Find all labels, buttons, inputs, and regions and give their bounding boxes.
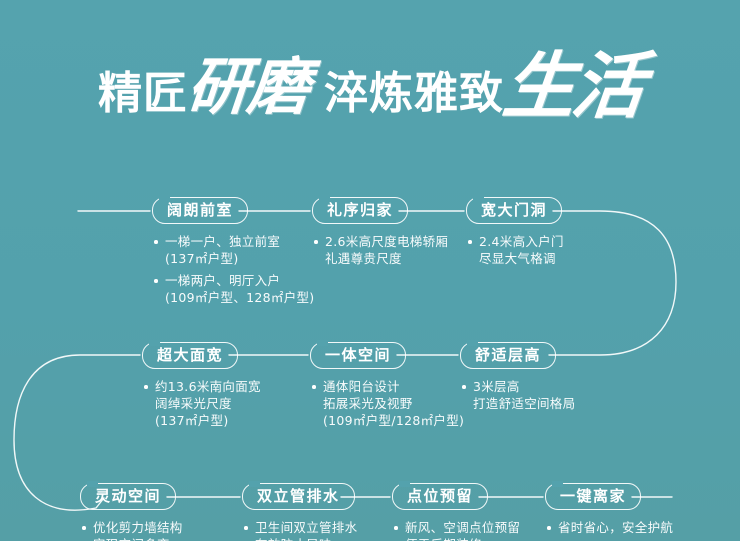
feature-card-kuandamendong[interactable]: 宽大门洞 2.4米高入户门 尽显大气格调: [466, 197, 564, 272]
title-segment-4: 生活: [498, 27, 647, 132]
feature-card-yitikongjian[interactable]: 一体空间 通体阳台设计 拓展采光及视野 (109㎡户型/128㎡户型): [310, 342, 464, 434]
bullet-line-2: (137㎡户型): [165, 250, 314, 267]
title-segment-2: 研磨: [184, 36, 312, 126]
bullet-line-2: 拓展采光及视野: [323, 395, 464, 412]
bullet-line-1: 约13.6米南向面宽: [155, 379, 261, 394]
card-label: 一键离家: [545, 483, 641, 510]
bullet-line-3: (137㎡户型): [155, 412, 261, 429]
card-label: 阔朗前室: [152, 197, 248, 224]
bullet-line-1: 优化剪力墙结构: [93, 520, 183, 535]
feature-card-chaodamiankuan[interactable]: 超大面宽 约13.6米南向面宽 阔绰采光尺度 (137㎡户型): [142, 342, 261, 434]
card-bullet-list: 省时省心，安全护航: [545, 519, 673, 536]
bullet-line-2: 有效防止异味: [255, 536, 357, 541]
feature-card-lingdongkongjian[interactable]: 灵动空间 优化剪力墙结构 实现空间多变: [80, 483, 183, 541]
card-bullet-list: 一梯一户、独立前室 (137㎡户型) 一梯两户、明厅入户 (109㎡户型、128…: [152, 233, 314, 306]
bullet-line-1: 一梯一户、独立前室: [165, 234, 280, 249]
bullet-line-1: 2.4米高入户门: [479, 234, 564, 249]
card-bullet-list: 卫生间双立管排水 有效防止异味: [242, 519, 357, 541]
bullet-line-1: 卫生间双立管排水: [255, 520, 357, 535]
card-bullet-list: 约13.6米南向面宽 阔绰采光尺度 (137㎡户型): [142, 378, 261, 429]
feature-card-yijianlijia[interactable]: 一键离家 省时省心，安全护航: [545, 483, 673, 541]
title-segment-1: 精匠: [98, 57, 188, 121]
list-item: 一梯两户、明厅入户 (109㎡户型、128㎡户型): [152, 272, 314, 306]
card-bullet-list: 2.6米高尺度电梯轿厢 礼遇尊贵尺度: [312, 233, 448, 267]
bullet-line-1: 通体阳台设计: [323, 379, 400, 394]
card-label: 一体空间: [310, 342, 406, 369]
page-title: 精匠 研磨 淬炼雅致 生活: [0, 30, 740, 140]
feature-card-shushicenggao[interactable]: 舒适层高 3米层高 打造舒适空间格局: [460, 342, 575, 417]
feature-card-kuolangqianshi[interactable]: 阔朗前室 一梯一户、独立前室 (137㎡户型) 一梯两户、明厅入户 (109㎡户…: [152, 197, 314, 311]
infographic-canvas: 精匠 研磨 淬炼雅致 生活 阔朗前室: [0, 0, 740, 541]
list-item: 卫生间双立管排水 有效防止异味: [242, 519, 357, 541]
list-item: 约13.6米南向面宽 阔绰采光尺度 (137㎡户型): [142, 378, 261, 429]
card-label: 灵动空间: [80, 483, 176, 510]
card-label: 双立管排水: [242, 483, 355, 510]
card-bullet-list: 新风、空调点位预留 便于后期装修: [392, 519, 520, 541]
title-segment-3: 淬炼雅致: [324, 57, 504, 121]
card-label: 超大面宽: [142, 342, 238, 369]
bullet-line-2: 阔绰采光尺度: [155, 395, 261, 412]
list-item: 2.6米高尺度电梯轿厢 礼遇尊贵尺度: [312, 233, 448, 267]
card-label: 舒适层高: [460, 342, 556, 369]
list-item: 新风、空调点位预留 便于后期装修: [392, 519, 520, 541]
bullet-line-1: 省时省心，安全护航: [558, 520, 673, 535]
card-bullet-list: 优化剪力墙结构 实现空间多变: [80, 519, 183, 541]
feature-card-dianweiyuliu[interactable]: 点位预留 新风、空调点位预留 便于后期装修: [392, 483, 520, 541]
card-bullet-list: 通体阳台设计 拓展采光及视野 (109㎡户型/128㎡户型): [310, 378, 464, 429]
list-item: 优化剪力墙结构 实现空间多变: [80, 519, 183, 541]
bullet-line-1: 新风、空调点位预留: [405, 520, 520, 535]
card-label: 礼序归家: [312, 197, 408, 224]
bullet-line-2: (109㎡户型、128㎡户型): [165, 289, 314, 306]
card-bullet-list: 2.4米高入户门 尽显大气格调: [466, 233, 564, 267]
bullet-line-1: 3米层高: [473, 379, 520, 394]
feature-card-shuangliguanpaishui[interactable]: 双立管排水 卫生间双立管排水 有效防止异味: [242, 483, 357, 541]
bullet-line-2: 尽显大气格调: [479, 250, 564, 267]
card-bullet-list: 3米层高 打造舒适空间格局: [460, 378, 575, 412]
card-label: 点位预留: [392, 483, 488, 510]
bullet-line-2: 实现空间多变: [93, 536, 183, 541]
line-right-u-curve: [549, 211, 676, 355]
list-item: 2.4米高入户门 尽显大气格调: [466, 233, 564, 267]
list-item: 3米层高 打造舒适空间格局: [460, 378, 575, 412]
card-label: 宽大门洞: [466, 197, 562, 224]
list-item: 省时省心，安全护航: [545, 519, 673, 536]
bullet-line-2: 打造舒适空间格局: [473, 395, 575, 412]
bullet-line-2: 便于后期装修: [405, 536, 520, 541]
feature-card-lixuguijia[interactable]: 礼序归家 2.6米高尺度电梯轿厢 礼遇尊贵尺度: [312, 197, 448, 272]
bullet-line-2: 礼遇尊贵尺度: [325, 250, 448, 267]
list-item: 一梯一户、独立前室 (137㎡户型): [152, 233, 314, 267]
bullet-line-1: 一梯两户、明厅入户: [165, 273, 280, 288]
bullet-line-3: (109㎡户型/128㎡户型): [323, 412, 464, 429]
bullet-line-1: 2.6米高尺度电梯轿厢: [325, 234, 448, 249]
list-item: 通体阳台设计 拓展采光及视野 (109㎡户型/128㎡户型): [310, 378, 464, 429]
